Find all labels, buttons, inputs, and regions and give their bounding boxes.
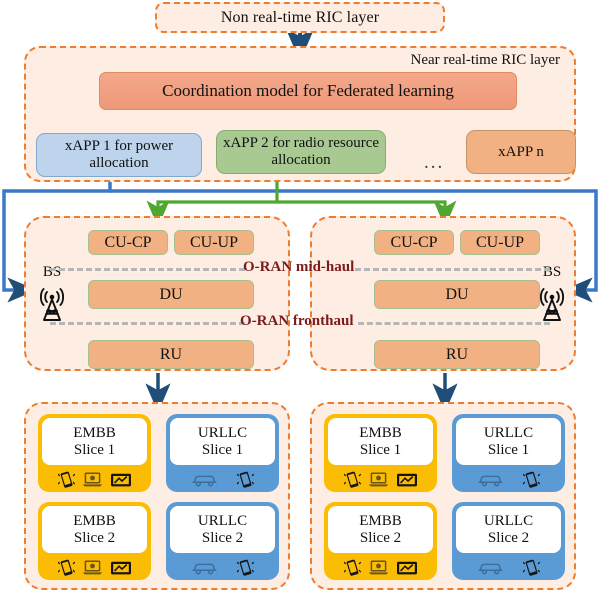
ru-box-right[interactable]: RU bbox=[374, 340, 540, 369]
slice-device-icons bbox=[456, 465, 561, 492]
cell-tower-icon bbox=[31, 282, 73, 322]
slice-caption: URLLC Slice 1 bbox=[456, 418, 561, 465]
vibrating-phone-icon bbox=[58, 470, 75, 489]
near-real-time-ric-layer[interactable]: Near real-time RIC layer Coordination mo… bbox=[24, 46, 576, 182]
vibrating-phone-icon bbox=[344, 470, 361, 489]
slice-caption: EMBB Slice 1 bbox=[42, 418, 147, 465]
mid-haul-label: O-RAN mid-haul bbox=[243, 259, 354, 276]
non-rt-ric-label: Non real-time RIC layer bbox=[221, 9, 379, 27]
du-box-left[interactable]: DU bbox=[88, 280, 254, 309]
mid-haul-line-left bbox=[50, 268, 245, 271]
slice-group-left[interactable]: EMBB Slice 1 bbox=[24, 402, 290, 590]
slice-index-label: Slice 1 bbox=[202, 442, 243, 458]
bs-label-left: BS bbox=[30, 264, 74, 281]
slice-index-label: Slice 2 bbox=[74, 530, 115, 546]
slice-index-label: Slice 2 bbox=[360, 530, 401, 546]
slice-index-label: Slice 1 bbox=[74, 442, 115, 458]
xapp-1-power-allocation[interactable]: xAPP 1 for power allocation bbox=[36, 133, 202, 177]
tv-icon bbox=[110, 560, 132, 576]
non-real-time-ric-layer[interactable]: Non real-time RIC layer bbox=[155, 2, 445, 33]
slice-type-label: URLLC bbox=[198, 513, 247, 529]
slice-type-label: EMBB bbox=[359, 425, 402, 441]
slice-caption: URLLC Slice 1 bbox=[170, 418, 275, 465]
slice-index-label: Slice 1 bbox=[488, 442, 529, 458]
slice-type-label: URLLC bbox=[484, 513, 533, 529]
mid-haul-line-right bbox=[355, 268, 550, 271]
slice-urllc-2[interactable]: URLLC Slice 2 bbox=[166, 502, 279, 580]
slice-embb-2[interactable]: EMBB Slice 2 bbox=[324, 502, 437, 580]
slice-device-icons bbox=[170, 465, 275, 492]
slice-embb-1[interactable]: EMBB Slice 1 bbox=[38, 414, 151, 492]
cu-cp-box-right[interactable]: CU-CP bbox=[374, 230, 454, 255]
bs-label-right: BS bbox=[530, 264, 574, 281]
cu-up-box-right[interactable]: CU-UP bbox=[460, 230, 540, 255]
cu-up-box-left[interactable]: CU-UP bbox=[174, 230, 254, 255]
slice-device-icons bbox=[170, 553, 275, 580]
slice-index-label: Slice 1 bbox=[360, 442, 401, 458]
slice-embb-1[interactable]: EMBB Slice 1 bbox=[324, 414, 437, 492]
coordination-model-box[interactable]: Coordination model for Federated learnin… bbox=[99, 72, 517, 110]
slice-group-right[interactable]: EMBB Slice 1 bbox=[310, 402, 576, 590]
vibrating-phone-icon bbox=[523, 470, 540, 489]
slice-index-label: Slice 2 bbox=[488, 530, 529, 546]
du-box-right[interactable]: DU bbox=[374, 280, 540, 309]
slice-caption: EMBB Slice 2 bbox=[42, 506, 147, 553]
fronthaul-label: O-RAN fronthaul bbox=[240, 313, 353, 330]
slice-caption: URLLC Slice 2 bbox=[456, 506, 561, 553]
vibrating-phone-icon bbox=[237, 558, 254, 577]
vibrating-phone-icon bbox=[523, 558, 540, 577]
xapp-n[interactable]: xAPP n bbox=[466, 130, 576, 174]
laptop-icon bbox=[82, 471, 103, 488]
slice-index-label: Slice 2 bbox=[202, 530, 243, 546]
cell-tower-icon bbox=[531, 282, 573, 322]
car-icon bbox=[192, 560, 217, 575]
slice-type-label: URLLC bbox=[484, 425, 533, 441]
near-rt-ric-title: Near real-time RIC layer bbox=[410, 52, 560, 69]
slice-device-icons bbox=[42, 465, 147, 492]
slice-device-icons bbox=[456, 553, 561, 580]
slice-urllc-1[interactable]: URLLC Slice 1 bbox=[452, 414, 565, 492]
tv-icon bbox=[110, 472, 132, 488]
bs-panel-right[interactable]: CU-CP CU-UP DU RU BS bbox=[310, 216, 576, 371]
slice-type-label: EMBB bbox=[359, 513, 402, 529]
cu-cp-box-left[interactable]: CU-CP bbox=[88, 230, 168, 255]
car-icon bbox=[478, 472, 503, 487]
car-icon bbox=[478, 560, 503, 575]
slice-device-icons bbox=[328, 465, 433, 492]
vibrating-phone-icon bbox=[58, 558, 75, 577]
laptop-icon bbox=[368, 559, 389, 576]
fronthaul-line-left bbox=[50, 322, 245, 325]
vibrating-phone-icon bbox=[237, 470, 254, 489]
fronthaul-line-right bbox=[358, 322, 550, 325]
laptop-icon bbox=[82, 559, 103, 576]
laptop-icon bbox=[368, 471, 389, 488]
car-icon bbox=[192, 472, 217, 487]
slice-device-icons bbox=[42, 553, 147, 580]
xapp-2-radio-resource-allocation[interactable]: xAPP 2 for radio resource allocation bbox=[216, 130, 386, 174]
tv-icon bbox=[396, 560, 418, 576]
slice-caption: URLLC Slice 2 bbox=[170, 506, 275, 553]
bs-panel-left[interactable]: CU-CP CU-UP DU RU BS bbox=[24, 216, 290, 371]
slice-caption: EMBB Slice 2 bbox=[328, 506, 433, 553]
vibrating-phone-icon bbox=[344, 558, 361, 577]
slice-device-icons bbox=[328, 553, 433, 580]
slice-type-label: EMBB bbox=[73, 425, 116, 441]
ru-box-left[interactable]: RU bbox=[88, 340, 254, 369]
slice-type-label: EMBB bbox=[73, 513, 116, 529]
slice-caption: EMBB Slice 1 bbox=[328, 418, 433, 465]
xapp-ellipsis: ... bbox=[424, 152, 444, 174]
tv-icon bbox=[396, 472, 418, 488]
diagram-canvas: Non real-time RIC layer Near real-time R… bbox=[0, 0, 600, 594]
slice-type-label: URLLC bbox=[198, 425, 247, 441]
slice-urllc-1[interactable]: URLLC Slice 1 bbox=[166, 414, 279, 492]
slice-urllc-2[interactable]: URLLC Slice 2 bbox=[452, 502, 565, 580]
slice-embb-2[interactable]: EMBB Slice 2 bbox=[38, 502, 151, 580]
